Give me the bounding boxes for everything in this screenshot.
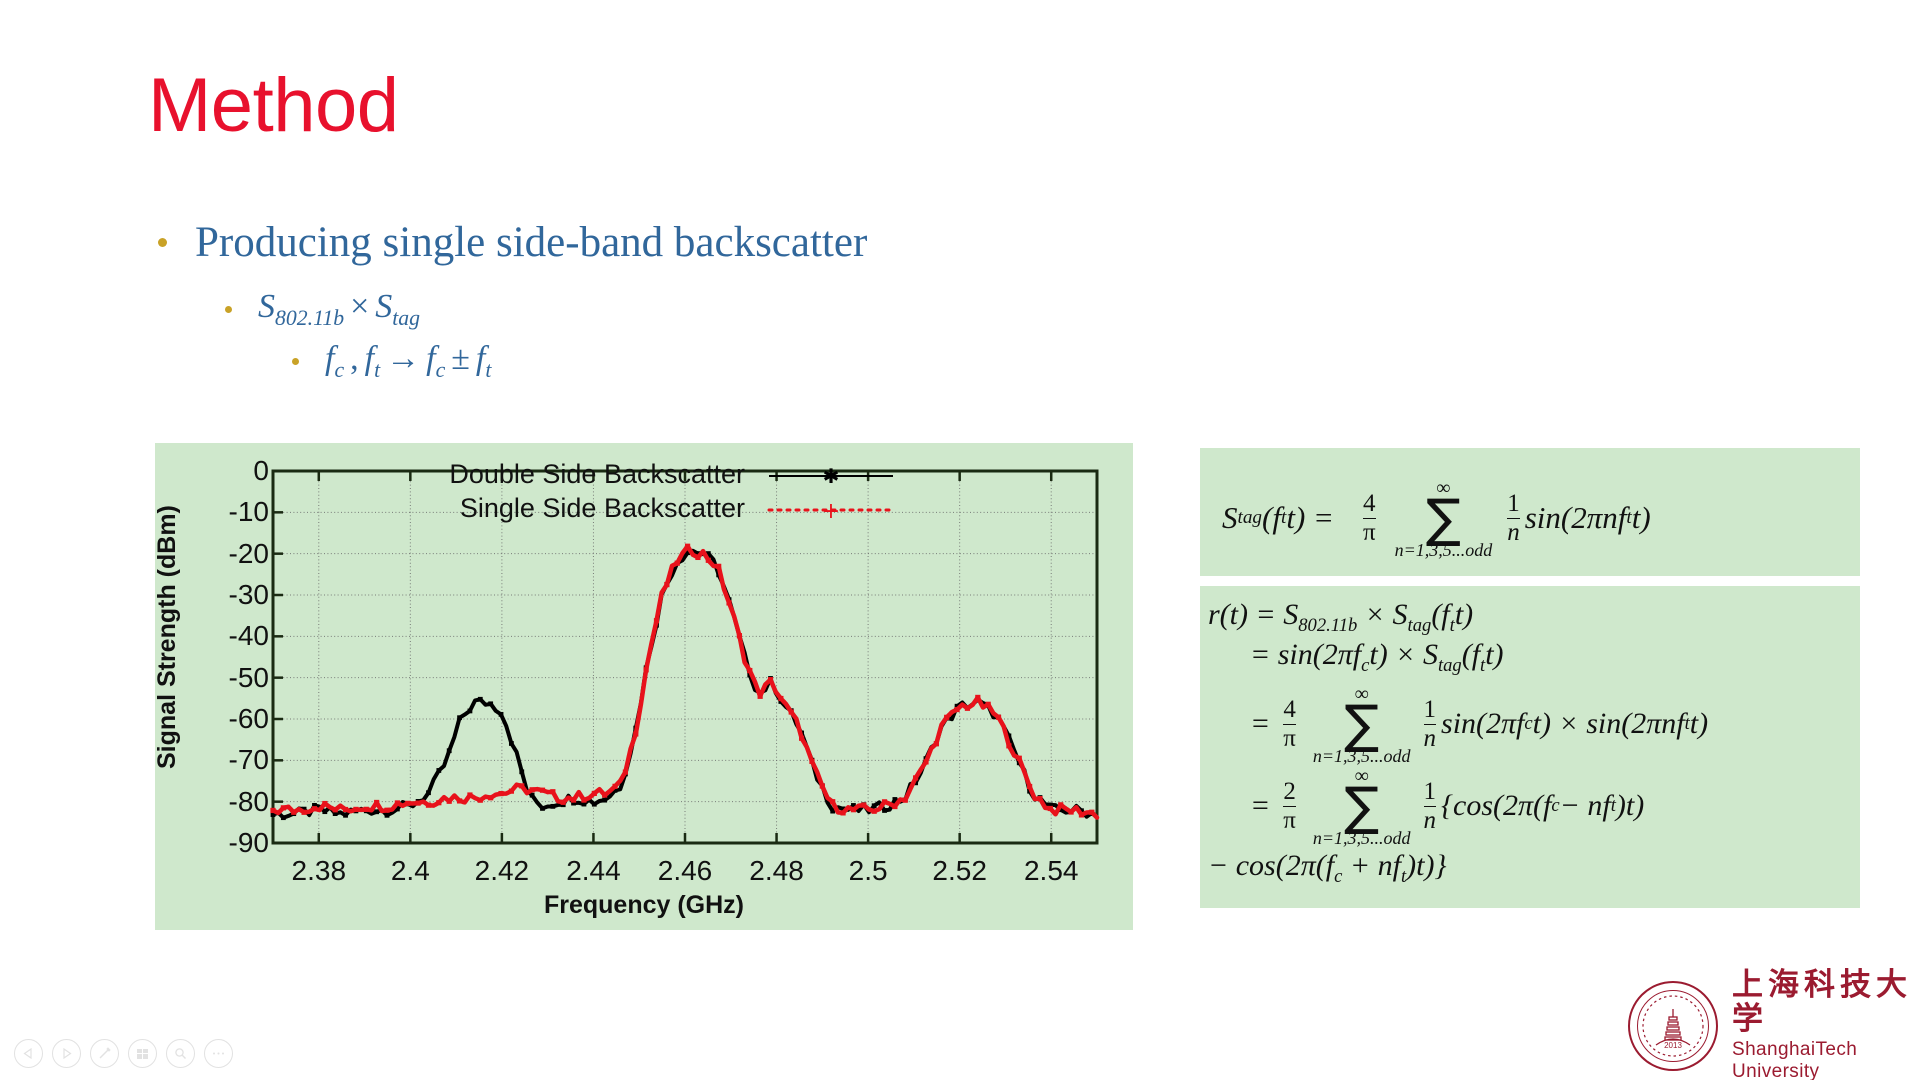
eq2l1-d: t) bbox=[1455, 598, 1473, 631]
legend-label-single: Single Side Backscatter bbox=[365, 493, 767, 524]
chart-x-tick-label: 2.44 bbox=[566, 855, 621, 887]
formula-S2: S bbox=[375, 288, 392, 325]
logo-chinese-name: 上海科技大学 bbox=[1732, 968, 1920, 1036]
eq2l4-a: {cos(2π(f bbox=[1441, 789, 1551, 823]
formula-sub-tag: tag bbox=[392, 306, 420, 330]
bullet-dot-icon bbox=[292, 358, 299, 365]
eq2l1-c: (f bbox=[1431, 598, 1449, 631]
spectrum-chart-panel: Signal Strength (dBm) 0-10-20-30-40-50-6… bbox=[155, 443, 1133, 930]
equation-2-line-4: = 2 π ∞ ∑ n=1,3,5...odd 1 n {cos(2π(fc −… bbox=[1250, 766, 1644, 847]
eq2l2-b: t) × S bbox=[1369, 638, 1438, 671]
eq2l2-d: t) bbox=[1485, 638, 1503, 671]
eq2l2-a: = sin(2πf bbox=[1250, 638, 1361, 671]
eq2l3-frac-den: π bbox=[1283, 724, 1296, 752]
eq2l4-fraction-1-n: 1 n bbox=[1424, 779, 1437, 835]
equation-panel-tag-signal: Stag(ftt) = 4 π ∞ ∑ n=1,3,5...odd 1 n si… bbox=[1200, 448, 1860, 576]
eq2l2-c: (f bbox=[1462, 638, 1480, 671]
eq2l2-b-sub: tag bbox=[1438, 655, 1462, 676]
eq1-frac-den: π bbox=[1363, 518, 1376, 546]
bullet-level-3: fc,ft→fc±ft bbox=[292, 340, 491, 383]
equation-1: Stag(ftt) = 4 π ∞ ∑ n=1,3,5...odd 1 n si… bbox=[1222, 478, 1651, 559]
formula-arrow: → bbox=[380, 340, 426, 377]
legend-item: Double Side Backscatter ✱ bbox=[365, 457, 895, 491]
eq2l4-coef-den: n bbox=[1424, 806, 1437, 834]
bullet-dot-icon bbox=[158, 238, 167, 247]
grid-icon bbox=[136, 1048, 149, 1060]
eq2l3-fraction-4-pi: 4 π bbox=[1283, 697, 1296, 753]
previous-slide-button[interactable] bbox=[14, 1039, 43, 1068]
eq1-rhs: sin(2πnf bbox=[1525, 500, 1627, 536]
eq1-sum-bottom: n=1,3,5...odd bbox=[1395, 541, 1493, 559]
formula-plusminus: ± bbox=[445, 340, 476, 377]
eq2l5-b: + nf bbox=[1342, 849, 1401, 882]
formula-S: S bbox=[258, 288, 275, 325]
bullet-level-2: S802.11b×Stag bbox=[225, 288, 420, 331]
slide-overview-button[interactable] bbox=[128, 1039, 157, 1068]
eq2l3-eq: = bbox=[1250, 707, 1278, 741]
eq2l3-sum-symbol: ∑ bbox=[1344, 704, 1379, 747]
eq2l4-summation: ∞ ∑ n=1,3,5...odd bbox=[1313, 766, 1411, 847]
eq2l1-a: r(t) = S bbox=[1208, 598, 1298, 631]
eq2l3-summation: ∞ ∑ n=1,3,5...odd bbox=[1313, 684, 1411, 765]
equation-2-line-1: r(t) = S802.11b × Stag(ftt) bbox=[1208, 598, 1473, 637]
chart-x-tick-label: 2.48 bbox=[749, 855, 804, 887]
eq1-summation: ∞ ∑ n=1,3,5...odd bbox=[1395, 478, 1493, 559]
eq2l3-c: t) bbox=[1690, 707, 1708, 741]
formula-ft: f bbox=[365, 340, 374, 377]
eq2l3-coef-num: 1 bbox=[1424, 697, 1437, 724]
chart-x-axis-label: Frequency (GHz) bbox=[155, 891, 1133, 920]
eq1-coef-num: 1 bbox=[1507, 491, 1520, 518]
seal-artwork-icon bbox=[1630, 983, 1716, 1069]
legend-key-double: ✱ bbox=[767, 463, 895, 485]
svg-text:+: + bbox=[822, 499, 840, 521]
logo-english-name: ShanghaiTech University bbox=[1732, 1039, 1920, 1080]
chart-legend: Double Side Backscatter ✱ Single Side Ba… bbox=[365, 457, 895, 525]
formula-sub-c: c bbox=[334, 358, 344, 382]
eq2l3-sum-bottom: n=1,3,5...odd bbox=[1313, 747, 1411, 765]
eq2l1-a-sub: 802.11b bbox=[1298, 615, 1357, 636]
legend-label-double: Double Side Backscatter bbox=[365, 459, 767, 490]
eq1-frac-num: 4 bbox=[1363, 491, 1376, 518]
eq2l3-fraction-1-n: 1 n bbox=[1424, 697, 1437, 753]
eq2l5-a: − cos(2π(f bbox=[1208, 849, 1334, 882]
logo-text: 上海科技大学 ShanghaiTech University bbox=[1732, 968, 1920, 1080]
pen-icon bbox=[98, 1047, 111, 1060]
eq2l4-a-sub: c bbox=[1551, 795, 1559, 817]
formula-sub-c2: c bbox=[436, 358, 446, 382]
more-options-button[interactable] bbox=[204, 1039, 233, 1068]
chart-x-tick-label: 2.52 bbox=[932, 855, 987, 887]
svg-text:✱: ✱ bbox=[823, 465, 840, 487]
legend-key-single: + bbox=[767, 497, 895, 519]
eq2l4-c: )t) bbox=[1616, 789, 1644, 823]
bullet-level-2-formula: S802.11b×Stag bbox=[258, 288, 420, 331]
eq2l4-frac-den: π bbox=[1283, 806, 1296, 834]
eq1-lhs-arg-end: t) = bbox=[1286, 500, 1358, 536]
eq1-lhs-arg: (f bbox=[1262, 500, 1281, 536]
chart-x-tick-label: 2.54 bbox=[1024, 855, 1079, 887]
eq1-lhs: S bbox=[1222, 500, 1238, 536]
eq2l3-coef-den: n bbox=[1424, 724, 1437, 752]
eq2l4-sum-bottom: n=1,3,5...odd bbox=[1313, 829, 1411, 847]
next-slide-button[interactable] bbox=[52, 1039, 81, 1068]
bullet-level-1: Producing single side-band backscatter bbox=[158, 218, 867, 267]
eq1-fraction-4-pi: 4 π bbox=[1363, 491, 1376, 547]
legend-item: Single Side Backscatter + bbox=[365, 491, 895, 525]
formula-sub-802: 802.11b bbox=[275, 306, 344, 330]
bullet-level-1-label: Producing single side-band backscatter bbox=[195, 218, 867, 267]
eq1-coef-den: n bbox=[1507, 518, 1520, 546]
eq2l4-eq: = bbox=[1250, 789, 1278, 823]
triangle-right-icon bbox=[61, 1048, 72, 1059]
eq2l4-coef-num: 1 bbox=[1424, 779, 1437, 806]
eq2l1-b: × S bbox=[1357, 598, 1407, 631]
eq2l4-b: − nf bbox=[1560, 789, 1611, 823]
eq2l3-a-sub: c bbox=[1524, 713, 1532, 735]
eq2l3-b: t) × sin(2πnf bbox=[1533, 707, 1685, 741]
formula-comma: , bbox=[344, 340, 365, 377]
eq2l4-fraction-2-pi: 2 π bbox=[1283, 779, 1296, 835]
equation-panel-received-signal: r(t) = S802.11b × Stag(ftt) = sin(2πfct)… bbox=[1200, 586, 1860, 908]
formula-times: × bbox=[344, 288, 375, 325]
eq1-sum-symbol: ∑ bbox=[1426, 498, 1461, 541]
equation-2-line-2: = sin(2πfct) × Stag(ftt) bbox=[1250, 638, 1504, 677]
ellipsis-icon bbox=[212, 1051, 225, 1056]
chart-x-tick-label: 2.4 bbox=[391, 855, 430, 887]
eq2l1-b-sub: tag bbox=[1408, 615, 1432, 636]
eq2l3-a: sin(2πf bbox=[1441, 707, 1524, 741]
chart-x-tick-label: 2.42 bbox=[475, 855, 530, 887]
eq1-lhs-sub: tag bbox=[1238, 507, 1263, 529]
eq2l4-frac-num: 2 bbox=[1283, 779, 1296, 806]
formula-ft2: f bbox=[476, 340, 485, 377]
equation-2-line-5: − cos(2π(fc + nft)t)} bbox=[1208, 849, 1446, 888]
presentation-slide: Method Producing single side-band backsc… bbox=[0, 0, 1920, 1080]
chart-x-tick-label: 2.46 bbox=[658, 855, 713, 887]
equation-2-line-3: = 4 π ∞ ∑ n=1,3,5...odd 1 n sin(2πfct) ×… bbox=[1250, 684, 1708, 765]
eq2l3-frac-num: 4 bbox=[1283, 697, 1296, 724]
eq2l5-c: )t)} bbox=[1406, 849, 1446, 882]
slideshow-toolbar[interactable] bbox=[14, 1039, 233, 1068]
pen-tool-button[interactable] bbox=[90, 1039, 119, 1068]
eq2l4-sum-symbol: ∑ bbox=[1344, 786, 1379, 829]
triangle-left-icon bbox=[23, 1048, 34, 1059]
chart-inner: Signal Strength (dBm) 0-10-20-30-40-50-6… bbox=[155, 443, 1133, 930]
chart-x-tick-label: 2.5 bbox=[849, 855, 888, 887]
eq1-rhs-end: t) bbox=[1632, 500, 1651, 536]
zoom-button[interactable] bbox=[166, 1039, 195, 1068]
chart-x-tick-label: 2.38 bbox=[292, 855, 347, 887]
magnifier-icon bbox=[174, 1047, 187, 1060]
page-title: Method bbox=[148, 68, 399, 144]
formula-sub-t2: t bbox=[485, 358, 491, 382]
eq1-fraction-1-n: 1 n bbox=[1507, 491, 1520, 547]
logo-seal-icon: 2013 bbox=[1628, 981, 1718, 1071]
bullet-dot-icon bbox=[225, 306, 232, 313]
university-logo: 2013 上海科技大学 ShanghaiTech University bbox=[1628, 968, 1920, 1080]
formula-fc2: f bbox=[426, 340, 435, 377]
bullet-level-3-formula: fc,ft→fc±ft bbox=[325, 340, 491, 383]
